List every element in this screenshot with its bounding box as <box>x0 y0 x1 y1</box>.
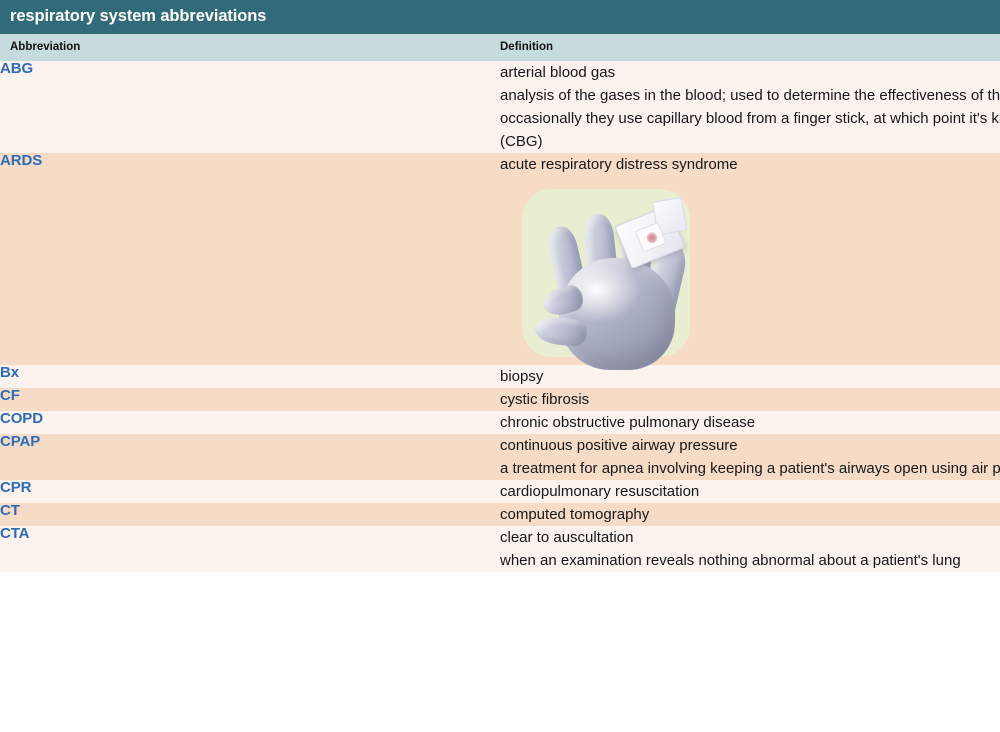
table-row: CF cystic fibrosis <box>0 388 1000 411</box>
definition-line: chronic obstructive pulmonary disease <box>500 411 1000 434</box>
abbreviation-cell: CT <box>0 503 500 526</box>
definition-line: biopsy <box>500 365 1000 388</box>
definition-line: cystic fibrosis <box>500 388 1000 411</box>
definition-line: clear to auscultation <box>500 526 1000 549</box>
definition-cell: acute respiratory distress syndrome <box>500 153 1000 365</box>
column-header-row: Abbreviation Definition <box>0 34 1000 61</box>
abbreviation-cell: CPR <box>0 480 500 503</box>
table-row: CTA clear to auscultation when an examin… <box>0 526 1000 572</box>
table-row: CPAP continuous positive airway pressure… <box>0 434 1000 480</box>
definition-cell: computed tomography <box>500 503 1000 526</box>
definition-line: analysis of the gases in the blood; used… <box>500 84 1000 107</box>
table-row: ARDS acute respiratory distress syndrome <box>0 153 1000 365</box>
abbreviation-cell: COPD <box>0 411 500 434</box>
definition-line: (CBG) <box>500 130 1000 153</box>
definition-cell: cystic fibrosis <box>500 388 1000 411</box>
definition-cell: biopsy <box>500 365 1000 388</box>
column-header-definition: Definition <box>500 34 1000 61</box>
column-header-abbreviation: Abbreviation <box>0 34 500 61</box>
abbreviation-cell: ABG <box>0 61 500 153</box>
definition-line: continuous positive airway pressure <box>500 434 1000 457</box>
table-row: CT computed tomography <box>0 503 1000 526</box>
definition-cell: continuous positive airway pressure a tr… <box>500 434 1000 480</box>
abbreviation-cell: CF <box>0 388 500 411</box>
abbreviations-table: respiratory system abbreviations Abbrevi… <box>0 0 1000 572</box>
definition-line: cardiopulmonary resuscitation <box>500 480 1000 503</box>
definition-line: arterial blood gas <box>500 61 1000 84</box>
table-row: Bx biopsy <box>0 365 1000 388</box>
abbreviation-cell: CTA <box>0 526 500 572</box>
table-row: COPD chronic obstructive pulmonary disea… <box>0 411 1000 434</box>
abbreviation-cell: ARDS <box>0 153 500 365</box>
definition-cell: cardiopulmonary resuscitation <box>500 480 1000 503</box>
abbreviations-table-body: respiratory system abbreviations Abbrevi… <box>0 0 1000 572</box>
abbreviation-cell: CPAP <box>0 434 500 480</box>
definition-line: when an examination reveals nothing abno… <box>500 549 1000 572</box>
definition-line: occasionally they use capillary blood fr… <box>500 107 1000 130</box>
definition-cell: arterial blood gas analysis of the gases… <box>500 61 1000 153</box>
table-title: respiratory system abbreviations <box>0 0 1000 34</box>
definition-line: computed tomography <box>500 503 1000 526</box>
definition-cell: chronic obstructive pulmonary disease <box>500 411 1000 434</box>
definition-cell: clear to auscultation when an examinatio… <box>500 526 1000 572</box>
table-title-row: respiratory system abbreviations <box>0 0 1000 34</box>
abbreviation-cell: Bx <box>0 365 500 388</box>
definition-line: a treatment for apnea involving keeping … <box>500 457 1000 480</box>
table-row: CPR cardiopulmonary resuscitation <box>0 480 1000 503</box>
definition-line: acute respiratory distress syndrome <box>500 153 1000 176</box>
gloved-hand-holding-rapid-test-card-image <box>522 189 690 357</box>
table-row: ABG arterial blood gas analysis of the g… <box>0 61 1000 153</box>
